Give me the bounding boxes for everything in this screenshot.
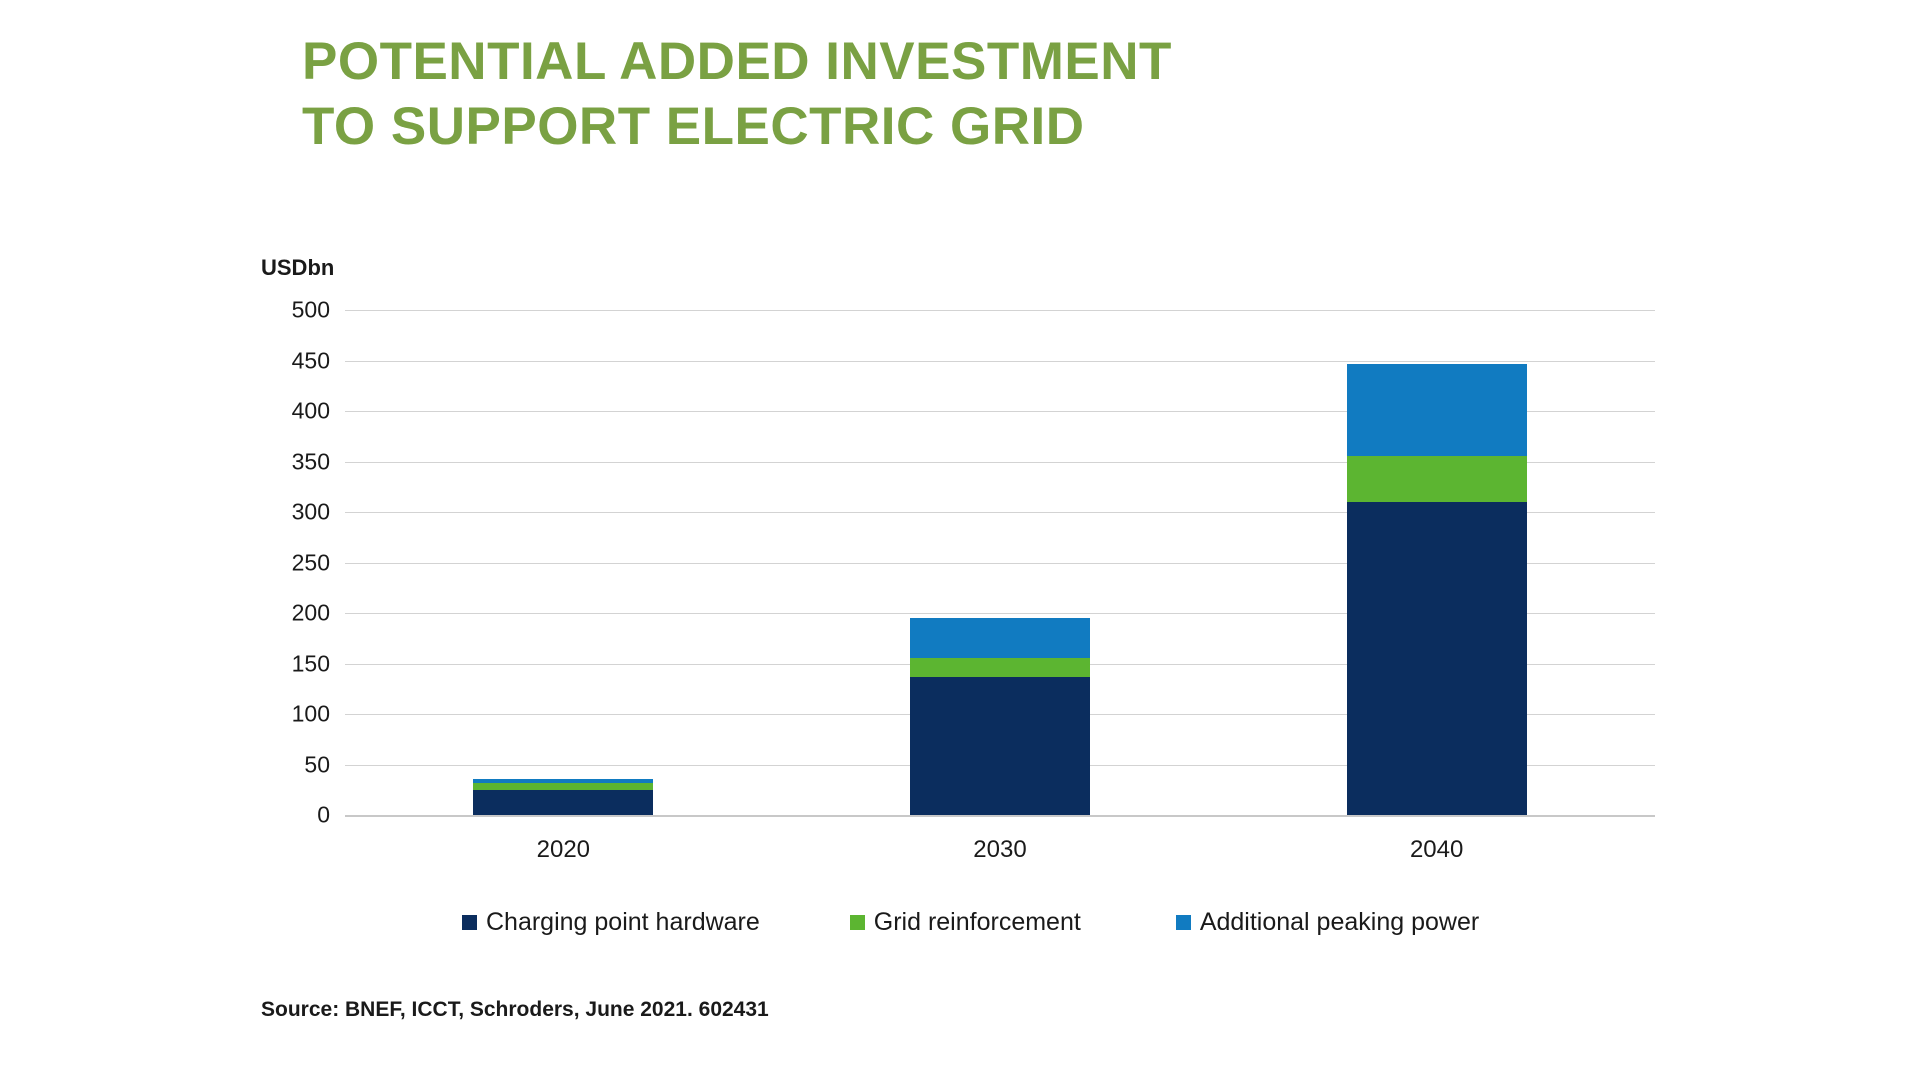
y-axis-tick: 200 bbox=[240, 600, 330, 627]
y-axis-tick: 150 bbox=[240, 650, 330, 677]
legend-item-1[interactable]: Charging point hardware bbox=[462, 908, 760, 937]
legend-label: Additional peaking power bbox=[1200, 908, 1479, 937]
legend-swatch-icon bbox=[1176, 915, 1191, 930]
plot-area bbox=[345, 310, 1655, 815]
bar-segment[interactable] bbox=[1347, 502, 1527, 815]
bar-segment[interactable] bbox=[473, 790, 653, 815]
legend-label: Grid reinforcement bbox=[874, 908, 1081, 937]
bar-segment[interactable] bbox=[473, 783, 653, 790]
y-axis-tick: 500 bbox=[240, 297, 330, 324]
y-axis-tick: 300 bbox=[240, 499, 330, 526]
source-note: Source: BNEF, ICCT, Schroders, June 2021… bbox=[261, 998, 769, 1022]
y-axis-tick: 100 bbox=[240, 701, 330, 728]
y-axis-tick: 450 bbox=[240, 347, 330, 374]
y-axis-tick: 400 bbox=[240, 398, 330, 425]
bar-group-2030[interactable] bbox=[910, 310, 1090, 815]
bar-segment[interactable] bbox=[1347, 364, 1527, 457]
x-axis-tick-2040: 2040 bbox=[1307, 836, 1567, 864]
bar-segment[interactable] bbox=[473, 779, 653, 783]
y-axis-tick: 0 bbox=[240, 802, 330, 829]
legend-item-3[interactable]: Additional peaking power bbox=[1176, 908, 1479, 937]
y-axis-tick: 50 bbox=[240, 751, 330, 778]
bar-segment[interactable] bbox=[910, 618, 1090, 658]
x-axis-tick-2030: 2030 bbox=[870, 836, 1130, 864]
y-axis-unit-label: USDbn bbox=[261, 255, 334, 281]
bar-segment[interactable] bbox=[1347, 456, 1527, 501]
y-axis-tick: 250 bbox=[240, 549, 330, 576]
chart-page: POTENTIAL ADDED INVESTMENT TO SUPPORT EL… bbox=[0, 0, 1920, 1080]
chart-legend: Charging point hardwareGrid reinforcemen… bbox=[462, 908, 1479, 937]
bar-group-2020[interactable] bbox=[473, 310, 653, 815]
legend-item-2[interactable]: Grid reinforcement bbox=[850, 908, 1081, 937]
x-axis-tick-2020: 2020 bbox=[433, 836, 693, 864]
legend-swatch-icon bbox=[850, 915, 865, 930]
bar-segment[interactable] bbox=[910, 658, 1090, 676]
legend-label: Charging point hardware bbox=[486, 908, 760, 937]
bar-segment[interactable] bbox=[910, 677, 1090, 815]
gridline bbox=[345, 815, 1655, 817]
y-axis-tick: 350 bbox=[240, 448, 330, 475]
legend-swatch-icon bbox=[462, 915, 477, 930]
bar-group-2040[interactable] bbox=[1347, 310, 1527, 815]
